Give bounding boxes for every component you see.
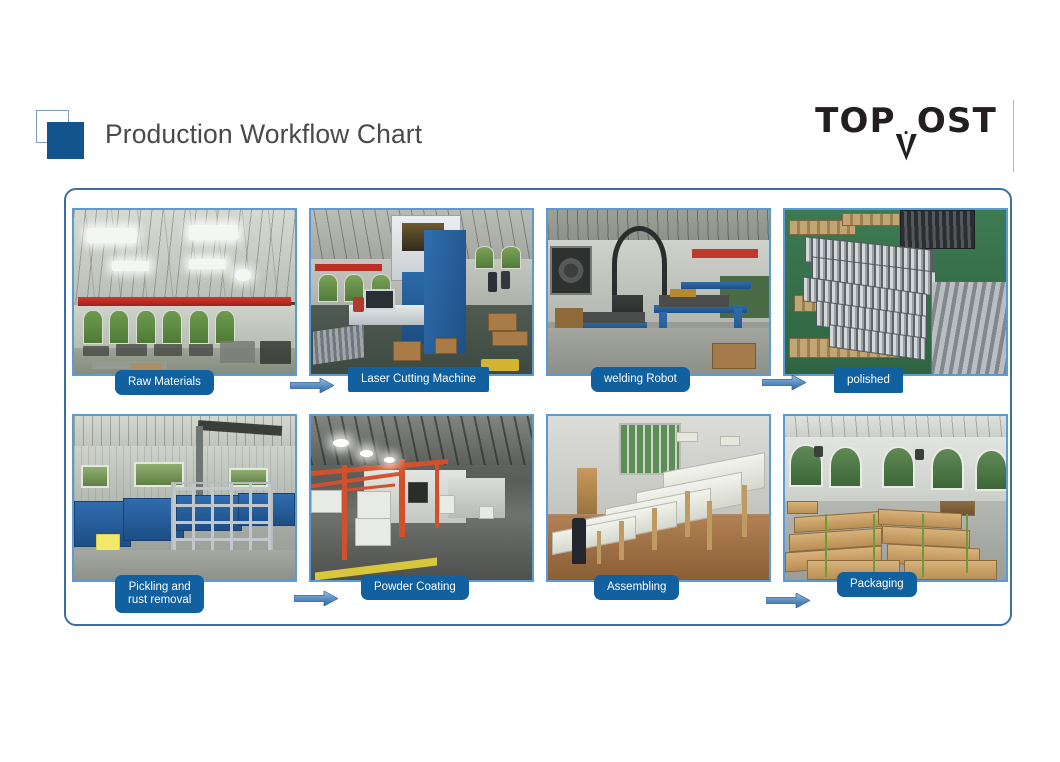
- workflow-step-7[interactable]: Assembling: [540, 404, 777, 612]
- workflow-step-5[interactable]: Pickling and rust removal: [66, 404, 303, 612]
- step-label-4: polished: [834, 368, 903, 393]
- step-label-2: Laser Cutting Machine: [348, 367, 489, 392]
- square-solid-icon: [47, 122, 84, 159]
- two-overlapping-squares-icon: [36, 108, 92, 160]
- workflow-row-bottom: Pickling and rust removal: [66, 404, 1014, 612]
- workflow-step-6[interactable]: Powder Coating: [303, 404, 540, 612]
- step-photo-powder-coating: [309, 414, 534, 582]
- step-label-1: Raw Materials: [115, 370, 214, 395]
- brand-wordmark: TOPOST: [815, 104, 997, 138]
- brand-logo: TOPOST: [815, 104, 1014, 172]
- flow-arrow-icon-1: [290, 378, 334, 393]
- step-photo-raw-materials: [72, 208, 297, 376]
- step-photo-packaging: [783, 414, 1008, 582]
- step-photo-pickling: [72, 414, 297, 582]
- workflow-step-8[interactable]: Packaging: [777, 404, 1014, 612]
- workflow-step-1[interactable]: Raw Materials: [66, 198, 303, 406]
- brand-divider: [1013, 100, 1014, 172]
- flow-arrow-icon-2: [762, 375, 806, 390]
- brand-text-after-m: OST: [917, 101, 997, 141]
- page-header: Production Workflow Chart TOPOST: [0, 0, 1060, 178]
- workflow-step-2[interactable]: Laser Cutting Machine: [303, 198, 540, 406]
- step-photo-assembling: [546, 414, 771, 582]
- step-photo-welding-robot: [546, 208, 771, 376]
- workflow-step-4[interactable]: polished: [777, 198, 1014, 406]
- page-title: Production Workflow Chart: [105, 119, 422, 150]
- step-label-3: welding Robot: [591, 367, 690, 392]
- flow-arrow-icon-5: [766, 593, 810, 608]
- step-label-8: Packaging: [837, 572, 917, 597]
- title-block: Production Workflow Chart: [36, 108, 422, 160]
- workflow-row-top: Raw Materials: [66, 198, 1014, 406]
- step-label-6: Powder Coating: [361, 575, 469, 600]
- workflow-frame: Raw Materials: [64, 188, 1012, 626]
- step-label-7: Assembling: [594, 575, 679, 600]
- workflow-step-3[interactable]: welding Robot: [540, 198, 777, 406]
- brand-text-before-m: TOP: [815, 101, 896, 141]
- step-photo-polished: [783, 208, 1008, 376]
- flow-arrow-icon-4: [294, 591, 338, 606]
- step-photo-laser-cutting: [309, 208, 534, 376]
- step-label-5: Pickling and rust removal: [115, 575, 204, 613]
